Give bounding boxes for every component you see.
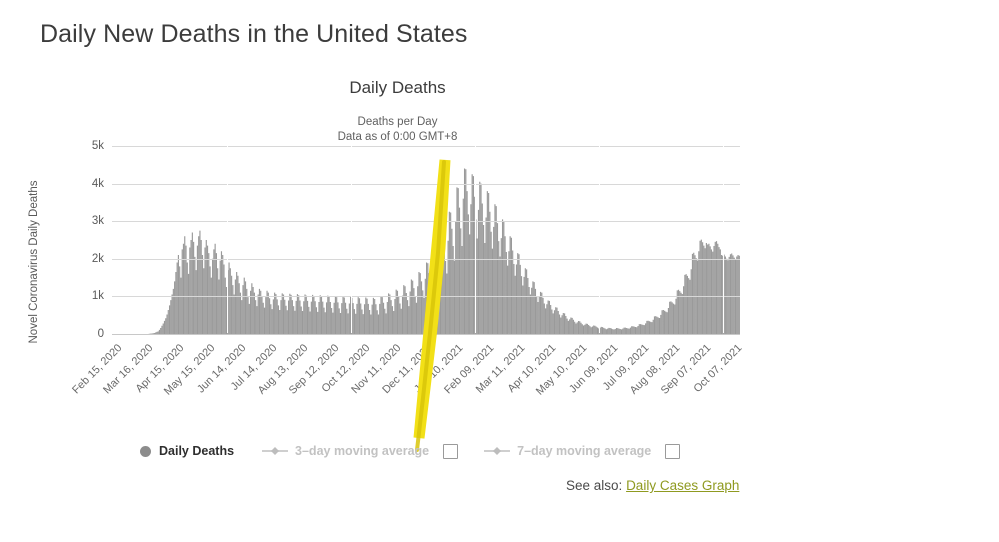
legend-line-marker-icon: [262, 446, 288, 456]
chart-subtitle-line-2: Data as of 0:00 GMT+8: [0, 130, 795, 145]
legend-swatch-icon: [140, 446, 151, 457]
daily-cases-graph-link[interactable]: Daily Cases Graph: [626, 478, 739, 493]
page-title: Daily New Deaths in the United States: [40, 20, 468, 49]
gridline: [112, 184, 740, 185]
chart-title: Daily Deaths: [0, 78, 795, 98]
gridline: [112, 296, 740, 297]
bar-series-daily-deaths: [112, 169, 740, 334]
y-axis-tick: 0: [70, 328, 104, 340]
see-also-label: See also:: [566, 478, 622, 493]
y-axis-tick: 4k: [70, 178, 104, 190]
axis-baseline: [112, 334, 740, 335]
legend-checkbox[interactable]: [665, 444, 680, 459]
y-axis-title: Novel Coronavirus Daily Deaths: [28, 152, 40, 372]
year-separator-line: [723, 146, 724, 333]
plot-wrap: Novel Coronavirus Daily Deaths 01k2k3k4k…: [0, 146, 795, 446]
gridline: [112, 259, 740, 260]
y-axis-tick: 5k: [70, 140, 104, 152]
chart-subtitle: Deaths per Day Data as of 0:00 GMT+8: [0, 115, 795, 145]
year-separator-line: [227, 146, 228, 333]
see-also-footer: See also: Daily Cases Graph: [566, 478, 739, 493]
year-separator-line: [475, 146, 476, 333]
legend-label[interactable]: Daily Deaths: [159, 444, 234, 458]
y-axis-tick: 2k: [70, 253, 104, 265]
y-axis-tick: 3k: [70, 215, 104, 227]
chart-legend: Daily Deaths3–day moving average7–day mo…: [140, 440, 706, 462]
legend-label[interactable]: 3–day moving average: [295, 444, 429, 458]
legend-line-marker-icon: [484, 446, 510, 456]
gridline: [112, 146, 740, 147]
year-separator-line: [351, 146, 352, 333]
gridline: [112, 221, 740, 222]
x-axis-tick-labels: Feb 15, 2020Mar 16, 2020Apr 15, 2020May …: [112, 336, 752, 446]
year-separator-line: [599, 146, 600, 333]
y-axis-tick: 1k: [70, 290, 104, 302]
daily-deaths-bars: [112, 146, 740, 334]
legend-label[interactable]: 7–day moving average: [517, 444, 651, 458]
chart-subtitle-line-1: Deaths per Day: [0, 115, 795, 130]
legend-checkbox[interactable]: [443, 444, 458, 459]
chart-panel: Daily Deaths Deaths per Day Data as of 0…: [0, 78, 999, 508]
